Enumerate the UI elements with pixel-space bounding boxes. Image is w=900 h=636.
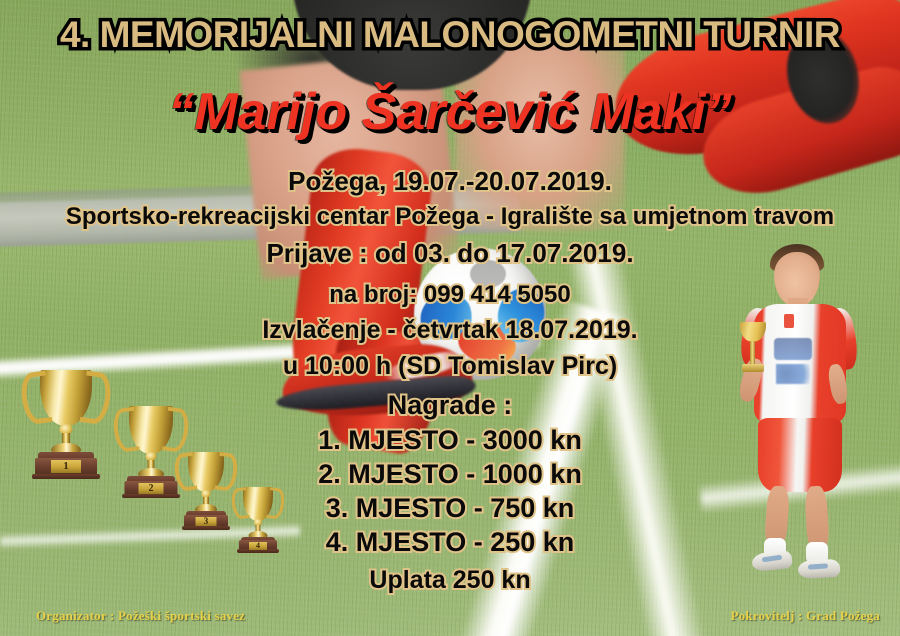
entry-fee: Uplata 250 kn [0, 566, 900, 595]
poster-title: 4. MEMORIJALNI MALONOGOMETNI TURNIR [0, 14, 900, 56]
footer-sponsor: Pokrovitelj : Grad Požega [730, 608, 880, 624]
line-draw-time-location: u 10:00 h (SD Tomislav Pirc) [0, 352, 900, 381]
prize-first-place: 1. MJESTO - 3000 kn [0, 425, 900, 456]
prize-second-place: 2. MJESTO - 1000 kn [0, 459, 900, 490]
line-place-and-date: Požega, 19.07.-20.07.2019. [0, 166, 900, 197]
footer-organizer: Organizator : Požeški športski savez [36, 608, 245, 624]
line-venue: Sportsko-rekreacijski centar Požega - Ig… [0, 203, 900, 231]
prizes-heading: Nagrade : [0, 390, 900, 421]
line-draw-date: Izvlačenje - četvrtak 18.07.2019. [0, 316, 900, 345]
line-registration-period: Prijave : od 03. do 17.07.2019. [0, 238, 900, 269]
line-phone-number: na broj: 099 414 5050 [0, 281, 900, 309]
prize-fourth-place: 4. MJESTO - 250 kn [0, 527, 900, 558]
poster-subtitle-memorial-name: “Marijo Šarčević Maki” [0, 82, 900, 142]
tournament-poster: 1 2 3 4 4. MEM [0, 0, 900, 636]
prize-third-place: 3. MJESTO - 750 kn [0, 493, 900, 524]
